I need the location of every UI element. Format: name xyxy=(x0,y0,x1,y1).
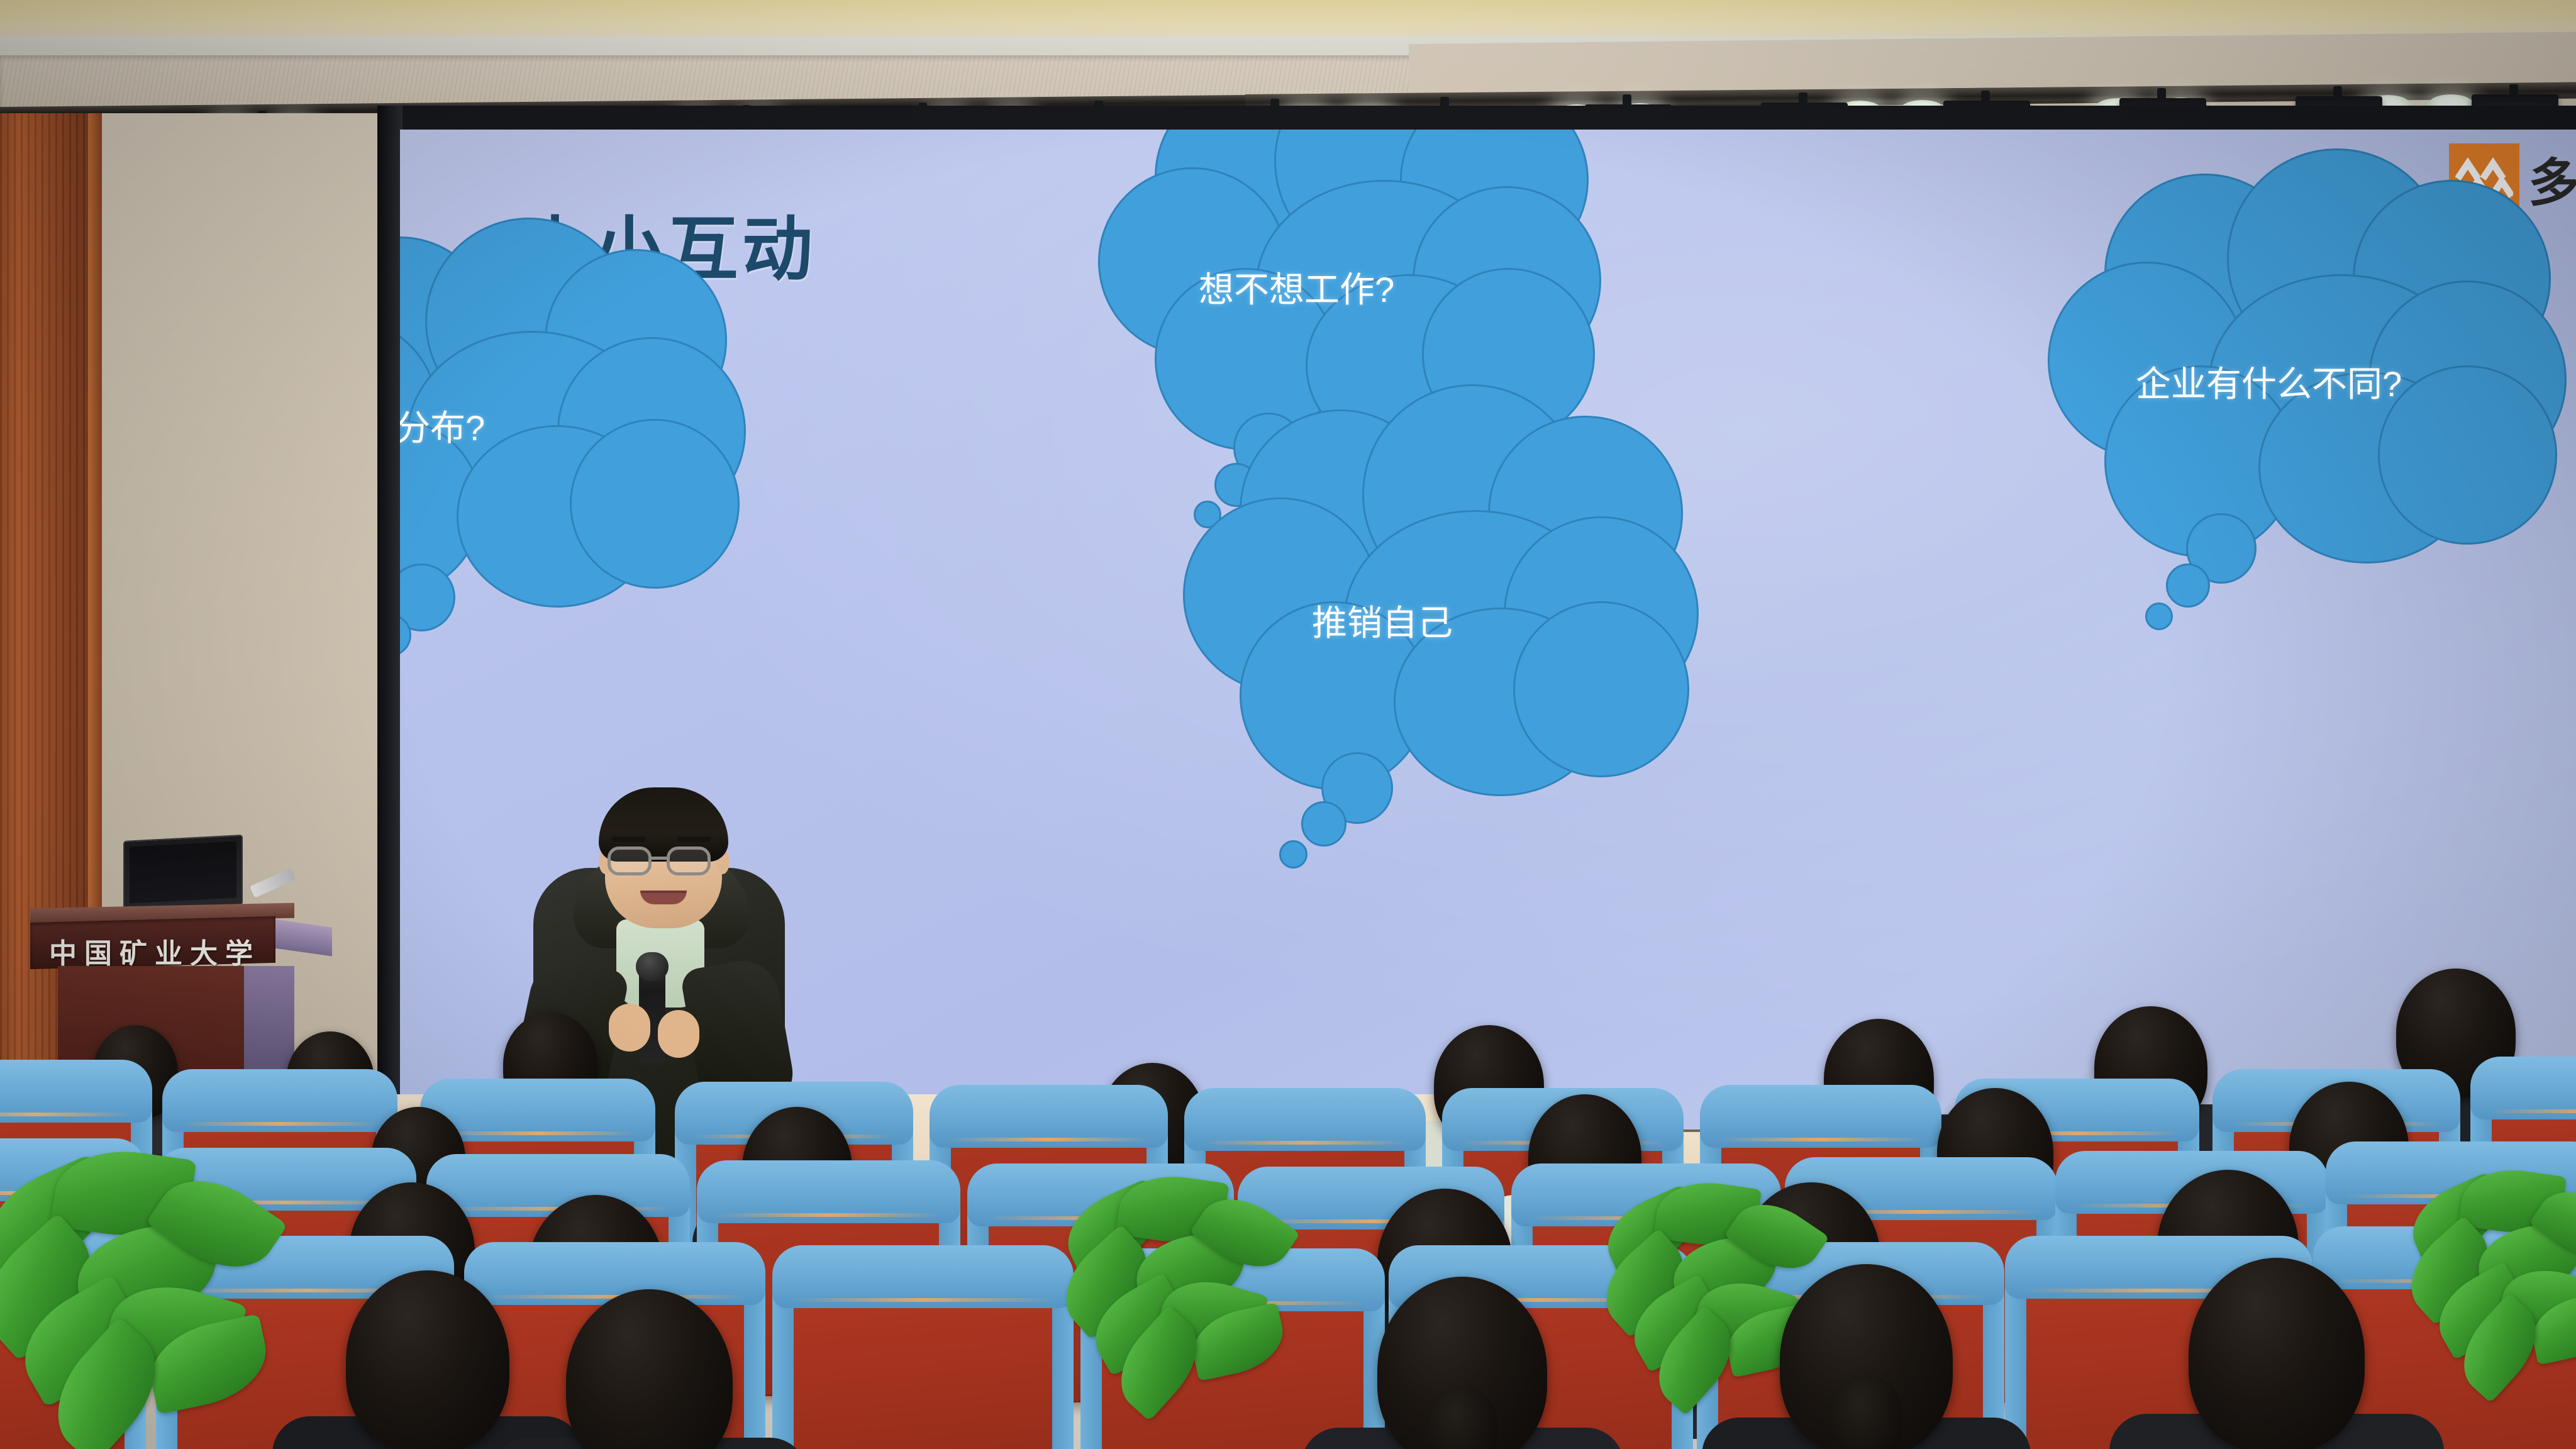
seat-trim xyxy=(439,1131,636,1135)
thought-bubble-grade-distribution: 年级分布? xyxy=(400,211,696,513)
bubble-text: 年级分布? xyxy=(400,400,485,451)
potted-plant xyxy=(0,1151,230,1406)
fixture-yoke xyxy=(1981,91,1990,104)
podium-label: 中国矿业大学 xyxy=(49,931,260,971)
bubble-lobe xyxy=(2378,365,2557,545)
seat-trim xyxy=(948,1138,1149,1141)
microphone-head xyxy=(636,952,669,981)
seat-trim xyxy=(716,1213,941,1217)
audience-member-head xyxy=(2189,1258,2365,1449)
presenter-mouth xyxy=(640,891,687,904)
brand-name: 多 xyxy=(2528,141,2576,216)
fixture-yoke xyxy=(2509,84,2518,98)
seat-trim xyxy=(1203,1141,1407,1145)
thought-bubble-company-difference: 企业有什么不同? xyxy=(2010,148,2526,463)
fixture-yoke xyxy=(2333,86,2342,100)
projection-screen-left-bezel xyxy=(377,106,402,1137)
fixture-yoke xyxy=(1799,92,1807,106)
auditorium-seat xyxy=(786,1258,1060,1449)
laptop-screen xyxy=(130,841,236,904)
bubble-tail-circle xyxy=(2145,602,2173,630)
seat-trim xyxy=(0,1113,133,1116)
seat-trim xyxy=(1719,1138,1923,1141)
presenter-hand-right xyxy=(658,1010,699,1058)
seat-frame-right xyxy=(744,1280,765,1449)
glasses-lens-right-icon xyxy=(667,847,711,875)
bubble-tail-circle xyxy=(1301,801,1346,847)
seat-trim xyxy=(2489,1109,2576,1113)
bubble-lobe xyxy=(1513,601,1689,777)
lecture-hall-scene: 小小互动 多 年级分布?想不想工作?推销自己企业有什么不同? 中国矿业大学 xyxy=(0,0,2576,1449)
bubble-lobe xyxy=(570,419,740,589)
potted-plant xyxy=(1057,1176,1255,1374)
bubble-tail-circle xyxy=(1279,840,1307,869)
presenter-brow-left xyxy=(611,836,645,842)
presenter-hand-left xyxy=(609,1004,650,1052)
thought-bubble-want-to-work: 想不想工作? xyxy=(1060,130,1538,356)
audience-member-head xyxy=(1780,1264,1953,1449)
audience-member-head xyxy=(346,1270,509,1449)
seat-trim xyxy=(791,1298,1055,1302)
bubble-text: 想不想工作? xyxy=(1199,262,1394,313)
laptop xyxy=(123,835,243,911)
glasses-icon xyxy=(608,847,652,875)
thought-bubble-sell-yourself: 推销自己 xyxy=(1142,381,1633,696)
presenter-brow-right xyxy=(677,836,711,842)
bubble-text: 企业有什么不同? xyxy=(2136,356,2402,407)
glasses-bridge xyxy=(650,857,670,860)
bubble-text: 推销自己 xyxy=(1312,595,1453,646)
potted-plant xyxy=(2402,1170,2576,1358)
fixture-yoke xyxy=(2157,88,2166,102)
potted-plant xyxy=(1597,1182,1786,1371)
bubble-tail-circle xyxy=(2166,563,2210,608)
seat-trim xyxy=(181,1122,379,1126)
